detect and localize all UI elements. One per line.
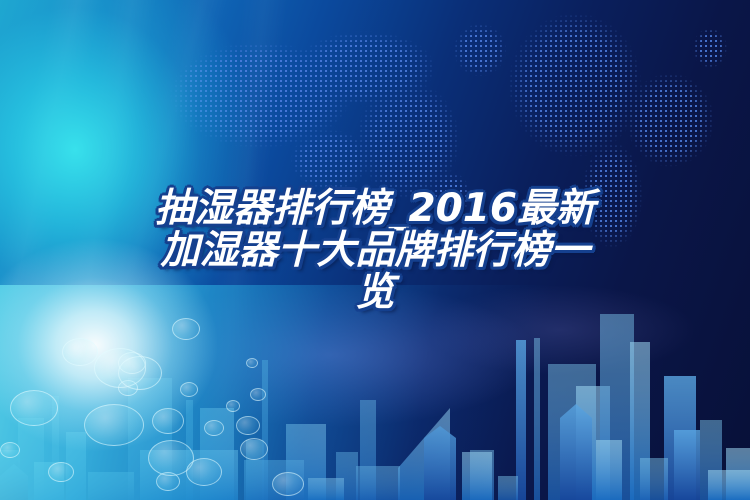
title-line-1: 抽湿器排行榜_2016最新	[0, 188, 750, 230]
title-line-3: 览	[0, 272, 750, 314]
title-line-2: 加湿器十大品牌排行榜一	[0, 230, 750, 272]
banner-title: 抽湿器排行榜_2016最新 加湿器十大品牌排行榜一 览	[0, 188, 750, 314]
promo-banner: 抽湿器排行榜_2016最新 加湿器十大品牌排行榜一 览	[0, 0, 750, 500]
